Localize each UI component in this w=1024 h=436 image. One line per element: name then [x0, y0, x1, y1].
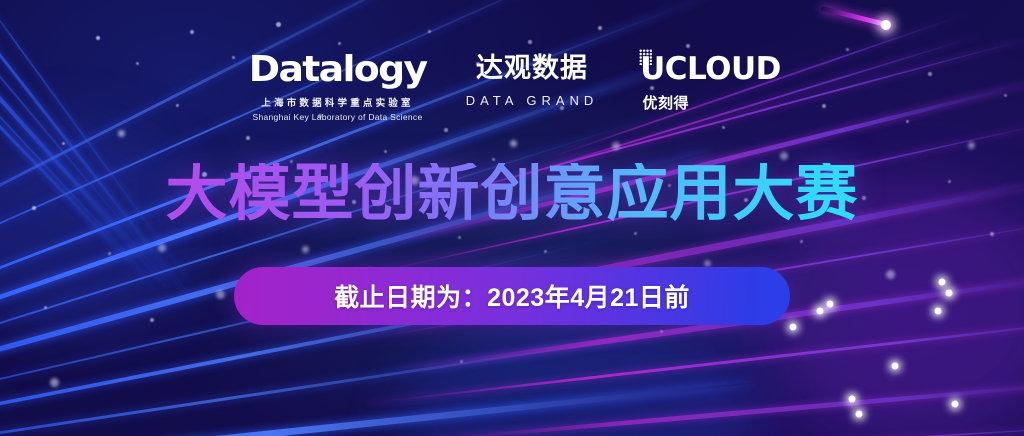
- logo-ucloud: UCLOUD 优刻得: [637, 54, 777, 113]
- logo-row: Datalogy 上海市数据科学重点实验室 Shanghai Key Labor…: [0, 52, 1024, 122]
- data-grand-chinese-name: 达观数据: [476, 54, 588, 84]
- datalogy-english-name: Shanghai Key Laboratory of Data Science: [253, 112, 423, 122]
- ucloud-chinese-name: 优刻得: [637, 92, 690, 113]
- datalogy-wordmark: Datalogy: [249, 52, 427, 88]
- deadline-pill-wrapper: 截止日期为：2023年4月21日前: [0, 267, 1024, 325]
- page-title: 大模型创新创意应用大赛: [0, 163, 1024, 225]
- deadline-pill: 截止日期为：2023年4月21日前: [234, 267, 790, 325]
- datalogy-chinese-name: 上海市数据科学重点实验室: [261, 95, 413, 109]
- ucloud-wordmark: UCLOUD: [632, 54, 781, 85]
- logo-data-grand: 达观数据 DATA GRAND: [460, 54, 605, 108]
- event-banner: Datalogy 上海市数据科学重点实验室 Shanghai Key Labor…: [0, 0, 1024, 436]
- ucloud-dot-pattern-icon: [639, 49, 652, 65]
- deadline-text: 截止日期为：2023年4月21日前: [334, 278, 690, 314]
- logo-datalogy: Datalogy 上海市数据科学重点实验室 Shanghai Key Labor…: [248, 52, 428, 122]
- data-grand-english-name: DATA GRAND: [466, 93, 599, 108]
